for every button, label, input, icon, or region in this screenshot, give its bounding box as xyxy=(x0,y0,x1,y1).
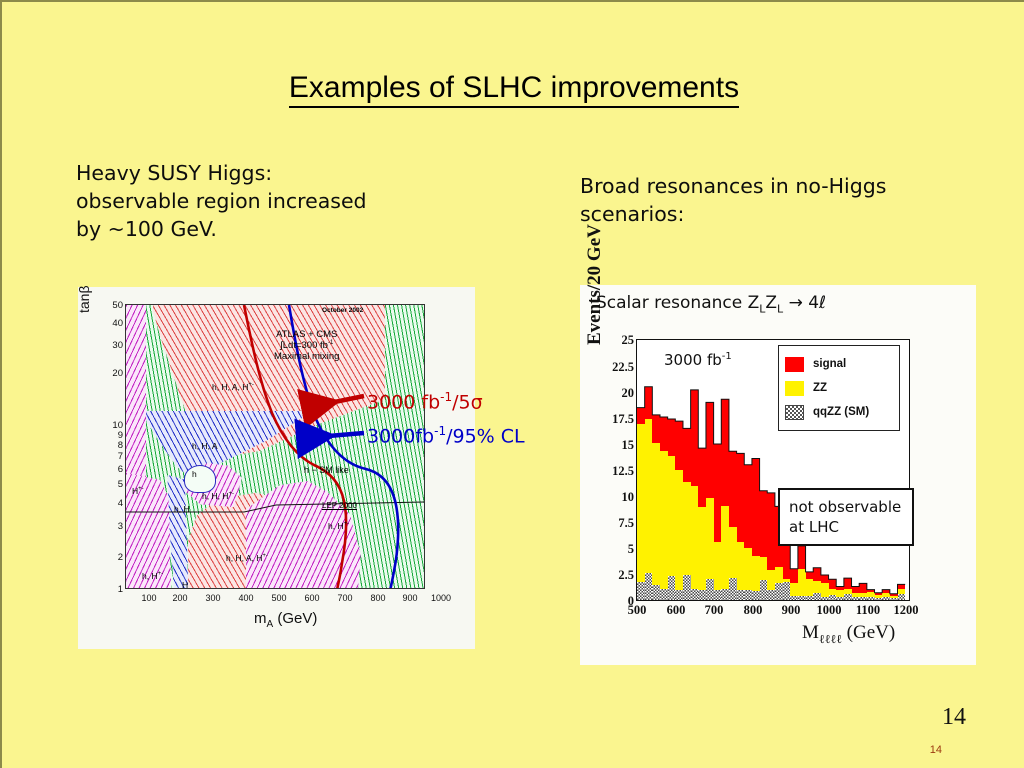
right-xtick: 700 xyxy=(693,603,735,618)
region-label-H-bottom: H xyxy=(182,580,188,589)
left-figure-date-stamp: October 2002 xyxy=(322,307,363,314)
right-ytick: 25 xyxy=(594,333,634,348)
region-label-hHAHpm-lower: h, H, A, H+- xyxy=(226,553,268,563)
right-ytick: 15 xyxy=(594,438,634,453)
region-label-h: h xyxy=(192,469,197,479)
experiment-name: ATLAS + CMS xyxy=(274,329,339,340)
legend-label-signal: signal xyxy=(813,358,846,370)
left-x-label-unit: (GeV) xyxy=(273,610,317,627)
legend-label-zz: ZZ xyxy=(813,382,827,394)
right-ytick: 5 xyxy=(594,542,634,557)
left-ytick: 5 xyxy=(101,479,123,490)
arrow-95cl xyxy=(305,433,364,438)
right-figure-title: Scalar resonance ZLZL → 4ℓ xyxy=(596,293,826,315)
left-figure-x-axis-label: mA (GeV) xyxy=(254,610,317,630)
region-label-Hpm-left: H+- xyxy=(132,486,144,496)
left-figure-y-axis-label: tanβ xyxy=(76,285,92,313)
figure-scalar-resonance-m4l: Scalar resonance ZLZL → 4ℓ Events/20 GeV… xyxy=(580,285,976,665)
right-figure-legend: signal ZZ qqZZ (SM) xyxy=(778,345,900,431)
right-figure-lumi-label: 3000 fb-1 xyxy=(664,351,732,369)
left-xtick: 800 xyxy=(365,593,391,603)
experiment-lumi: ∫Ldt=300 fb-1 xyxy=(274,340,339,351)
left-xtick: 700 xyxy=(332,593,358,603)
left-figure-experiment-label: ATLAS + CMS ∫Ldt=300 fb-1 Maximal mixing xyxy=(274,329,339,362)
region-label-hHAHpm-upper: h, H, A, H+- xyxy=(212,382,254,392)
left-caption-text: Heavy SUSY Higgs: observable region incr… xyxy=(76,159,496,243)
right-xtick: 1000 xyxy=(808,603,850,618)
legend-swatch-zz xyxy=(785,381,804,396)
legend-item: signal xyxy=(785,352,895,376)
right-caption-text: Broad resonances in no-Higgs scenarios: xyxy=(580,172,1000,228)
label-lep-2000: LEP 2000 xyxy=(322,501,357,510)
legend-label-qqzz: qqZZ (SM) xyxy=(813,406,869,418)
left-xtick: 600 xyxy=(299,593,325,603)
slide-canvas: Examples of SLHC improvements Heavy SUSY… xyxy=(0,0,1024,768)
right-figure-y-axis-label: Events/20 GeV xyxy=(584,224,606,345)
page-number: 14 xyxy=(942,704,966,731)
left-ytick: 30 xyxy=(101,340,123,351)
page-title-text: Examples of SLHC improvements xyxy=(289,71,739,108)
arrow-5sigma xyxy=(310,396,364,407)
left-ytick: 40 xyxy=(101,318,123,329)
annotation-3000fb-95cl: 3000fb-1/95% CL xyxy=(367,424,525,447)
left-xtick: 200 xyxy=(167,593,193,603)
right-xtick: 800 xyxy=(732,603,774,618)
left-xtick: 300 xyxy=(200,593,226,603)
experiment-mixing: Maximal mixing xyxy=(274,351,339,362)
callout-not-observable-at-lhc: not observable at LHC xyxy=(778,488,914,546)
right-xtick: 1100 xyxy=(847,603,889,618)
legend-item: qqZZ (SM) xyxy=(785,400,895,424)
region-label-hHHpm: h, H, H+- xyxy=(202,491,234,501)
page-number-footer: 14 xyxy=(930,744,942,756)
right-ytick: 12.5 xyxy=(594,464,634,479)
annotation-3000fb-5sigma: 3000 fb-1/5σ xyxy=(367,390,483,413)
left-xtick: 400 xyxy=(233,593,259,603)
right-ytick: 22.5 xyxy=(594,360,634,375)
right-xtick: 1200 xyxy=(885,603,927,618)
left-ytick: 1 xyxy=(101,584,123,595)
right-figure-x-axis-label: Mℓℓℓℓ (GeV) xyxy=(802,622,895,647)
left-xtick: 500 xyxy=(266,593,292,603)
region-label-hHpm-right: h, H+- xyxy=(328,521,349,531)
legend-swatch-qqzz xyxy=(785,405,804,420)
left-ytick: 4 xyxy=(101,498,123,509)
right-xtick: 900 xyxy=(770,603,812,618)
left-ytick: 7 xyxy=(101,451,123,462)
left-xtick: 900 xyxy=(397,593,423,603)
legend-swatch-signal xyxy=(785,357,804,372)
region-label-hH: h, H xyxy=(174,504,190,514)
lep-2000-contour xyxy=(126,502,425,512)
right-ytick: 7.5 xyxy=(594,516,634,531)
right-ytick: 2.5 xyxy=(594,568,634,583)
right-ytick: 10 xyxy=(594,490,634,505)
legend-item: ZZ xyxy=(785,376,895,400)
right-ytick: 17.5 xyxy=(594,412,634,427)
left-ytick: 6 xyxy=(101,464,123,475)
left-xtick: 100 xyxy=(136,593,162,603)
region-label-hHpm-bottomleft: h, H+- xyxy=(142,571,163,581)
region-label-hHA: h, H, A xyxy=(192,441,218,451)
right-xtick: 600 xyxy=(655,603,697,618)
right-ytick: 20 xyxy=(594,386,634,401)
left-ytick: 50 xyxy=(101,300,123,311)
left-ytick: 3 xyxy=(101,521,123,532)
right-xtick: 500 xyxy=(616,603,658,618)
left-ytick: 2 xyxy=(101,552,123,563)
left-ytick: 8 xyxy=(101,440,123,451)
left-ytick: 20 xyxy=(101,368,123,379)
figure-susy-higgs-tanbeta-ma: tanβ mA (GeV) 50 40 30 20 10 9 8 7 6 5 4… xyxy=(78,287,475,649)
page-title: Examples of SLHC improvements xyxy=(2,71,1024,105)
left-x-label-main: m xyxy=(254,610,267,627)
left-xtick: 1000 xyxy=(428,593,454,603)
